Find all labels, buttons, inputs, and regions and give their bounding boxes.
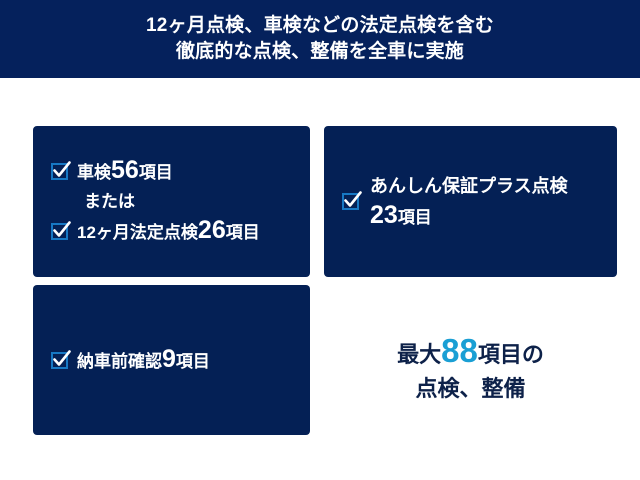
list-item-separator: または (51, 187, 310, 217)
summary-accent-number: 88 (441, 332, 478, 369)
header-line-2: 徹底的な点検、整備を全車に実施 (176, 39, 464, 65)
list-item-label: 納車前確認9項目 (77, 348, 210, 373)
warranty-line-2: 23項目 (370, 204, 568, 229)
list-item-label: 12ヶ月法定点検26項目 (77, 219, 260, 244)
list-item: 車検56項目 (51, 157, 310, 187)
summary-line-2: 点検、整備 (415, 375, 525, 403)
list-item: 12ヶ月法定点検26項目 (51, 217, 310, 247)
card-predelivery-check-rows: 納車前確認9項目 (33, 285, 310, 435)
card-warranty-plus-inspection-rows: あんしん保証プラス点検 23項目 (324, 126, 617, 277)
card-inspection-items: 車検56項目 または 12ヶ月法定点検26項目 (33, 126, 310, 277)
checkbox-checked-icon (51, 352, 68, 369)
summary-line-1: 最大88項目の (397, 337, 544, 369)
checkbox-checked-icon (342, 193, 359, 210)
warranty-text-stack: あんしん保証プラス点検 23項目 (370, 175, 568, 229)
header-line-1: 12ヶ月点検、車検などの法定点検を含む (146, 13, 494, 39)
card-predelivery-check: 納車前確認9項目 (33, 285, 310, 435)
checkbox-checked-icon (51, 223, 68, 240)
list-item-label: または (84, 191, 135, 213)
list-item-label: 車検56項目 (77, 159, 173, 184)
card-inspection-items-rows: 車検56項目 または 12ヶ月法定点検26項目 (33, 126, 310, 277)
checkbox-checked-icon (51, 163, 68, 180)
card-warranty-plus-inspection: あんしん保証プラス点検 23項目 (324, 126, 617, 277)
header-banner: 12ヶ月点検、車検などの法定点検を含む 徹底的な点検、整備を全車に実施 (0, 0, 640, 78)
list-item: 納車前確認9項目 (51, 345, 310, 375)
warranty-line-1: あんしん保証プラス点検 (370, 175, 568, 197)
summary-total-items: 最大88項目の 点検、整備 (324, 320, 617, 420)
